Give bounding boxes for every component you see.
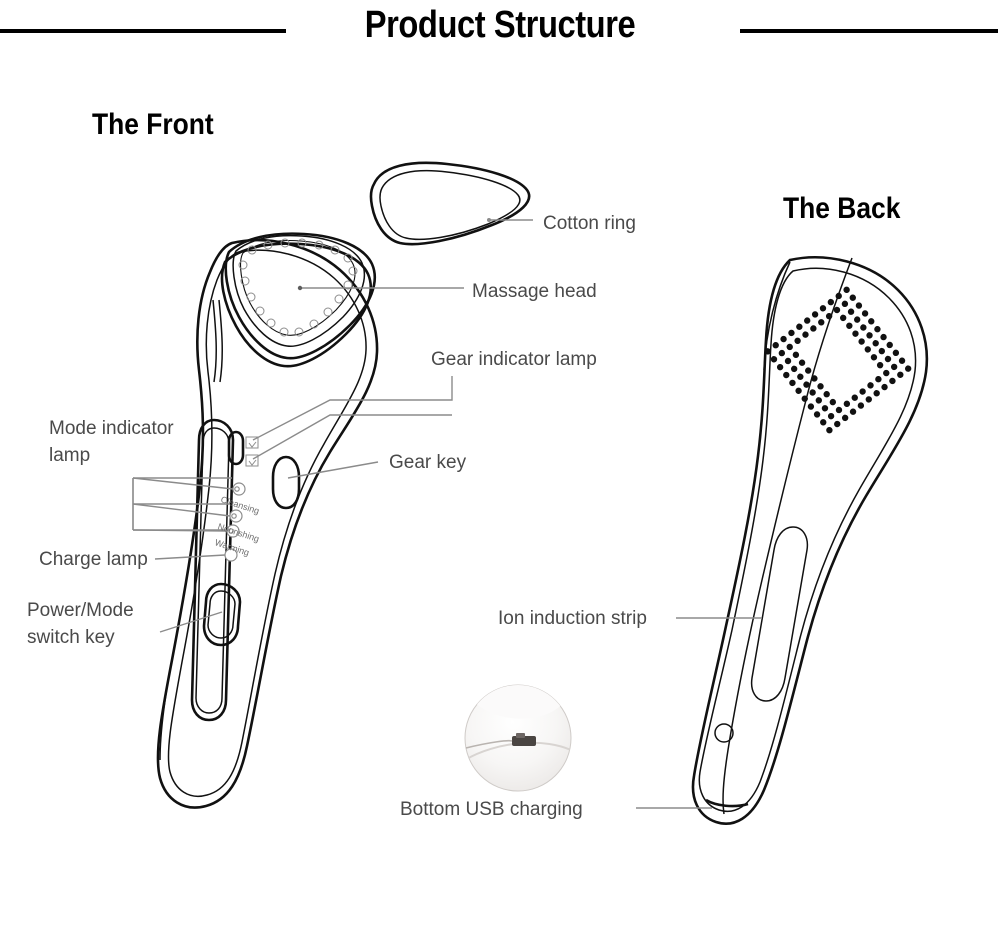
bottom-usb-photo-inset	[465, 683, 575, 791]
power-mode-switch-key	[204, 584, 240, 645]
front-device-illustration	[158, 234, 377, 808]
callout-massage-head: Massage head	[472, 278, 597, 305]
callout-power-mode-switch-key: Power/Mode switch key	[27, 597, 134, 651]
callout-cotton-ring: Cotton ring	[543, 210, 636, 237]
product-structure-diagram: Product Structure The Front The Back	[0, 0, 1000, 930]
callout-gear-key: Gear key	[389, 449, 466, 476]
callout-mode-indicator-lamp: Mode indicator lamp	[49, 415, 174, 469]
gear-key-button	[273, 457, 299, 508]
back-device-illustration	[693, 257, 927, 823]
cotton-ring-illustration	[371, 163, 529, 244]
callout-gear-indicator-lamp: Gear indicator lamp	[431, 346, 597, 373]
back-massage-dot-matrix	[763, 285, 912, 434]
callout-charge-lamp: Charge lamp	[39, 546, 148, 573]
callout-ion-induction-strip: Ion induction strip	[498, 605, 647, 632]
callout-bottom-usb-charging: Bottom USB charging	[400, 796, 583, 823]
gear-indicator-icons	[246, 437, 258, 466]
